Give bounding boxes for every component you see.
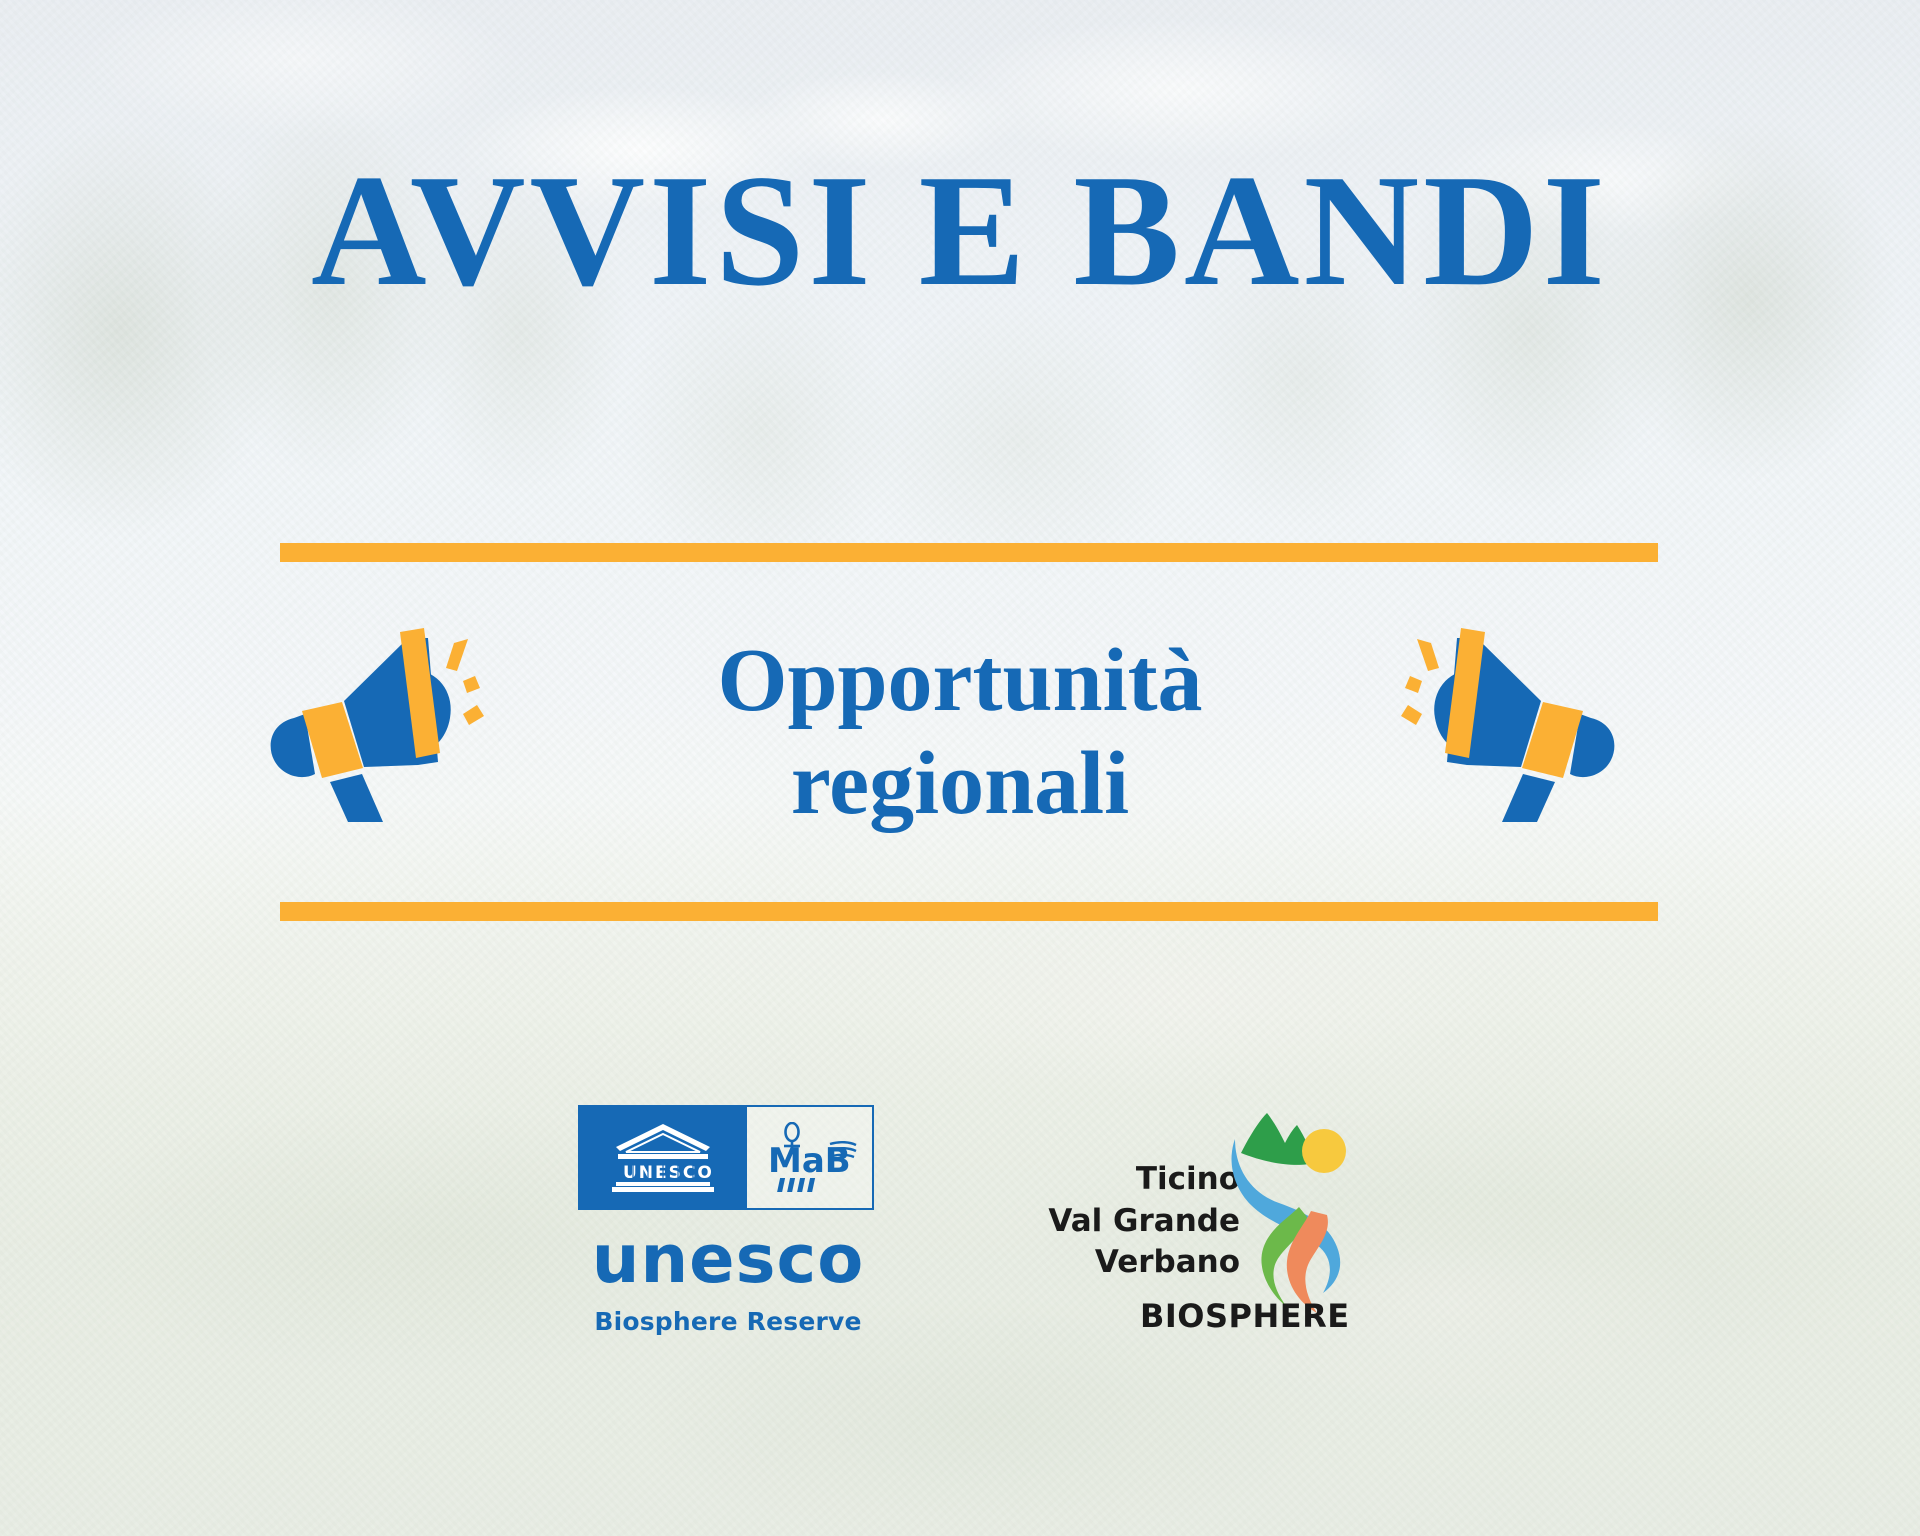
ticino-line-2: Val Grande <box>940 1201 1240 1243</box>
mab-icon: MaB <box>762 1122 858 1194</box>
megaphone-right-icon <box>1382 622 1627 827</box>
ticino-val-grande-verbano-logo: Ticino Val Grande Verbano <box>940 1107 1360 1342</box>
svg-text:UNESCO: UNESCO <box>623 1163 714 1183</box>
svg-text:MaB: MaB <box>768 1141 851 1181</box>
poster-subtitle: Opportunità regionali <box>560 630 1360 835</box>
sound-ray-group <box>446 639 484 725</box>
ticino-line-3: Verbano <box>940 1242 1240 1284</box>
megaphone-left-icon <box>258 622 503 827</box>
unesco-wordmark: unesco <box>578 1226 878 1293</box>
subtitle-line-1: Opportunità <box>560 630 1360 733</box>
ticino-biosphere-label: BIOSPHERE <box>1140 1297 1400 1335</box>
divider-bottom <box>280 902 1658 921</box>
sound-ray-group <box>1401 639 1439 725</box>
unesco-temple-icon: UNESCO <box>608 1121 718 1195</box>
ticino-line-1: Ticino <box>940 1159 1240 1201</box>
unesco-mab-panel: MaB <box>745 1107 872 1208</box>
ticino-logo-text: Ticino Val Grande Verbano <box>940 1159 1240 1284</box>
poster-canvas: AVVISI E BANDI <box>0 0 1920 1536</box>
unesco-tagline: Biosphere Reserve <box>578 1307 878 1336</box>
page-title: AVVISI E BANDI <box>0 150 1920 310</box>
unesco-temple-panel: UNESCO <box>580 1107 745 1208</box>
subtitle-line-2: regionali <box>560 733 1360 836</box>
divider-top <box>280 543 1658 562</box>
megaphone-icon <box>1382 622 1627 822</box>
unesco-logo: UNESCO <box>578 1105 878 1336</box>
poster-content: AVVISI E BANDI <box>0 0 1920 1536</box>
unesco-emblem-row: UNESCO <box>578 1105 874 1210</box>
megaphone-icon <box>258 622 503 822</box>
